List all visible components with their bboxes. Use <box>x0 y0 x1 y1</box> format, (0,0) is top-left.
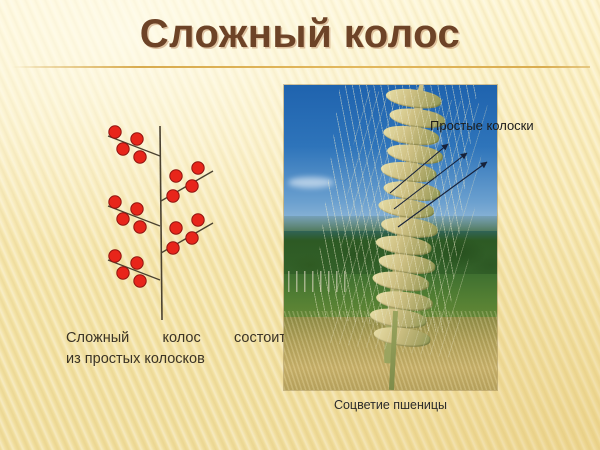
title-divider-rule <box>12 66 590 68</box>
spikelet-branch-left-3 <box>108 250 160 287</box>
spikelet-branch-left-1 <box>108 126 160 163</box>
slide-title: Сложный колос <box>0 12 600 57</box>
diagram-caption-line-2: из простых колосков <box>66 349 286 370</box>
compound-spike-diagram <box>95 108 265 328</box>
spikelet-branch-right-1 <box>161 162 213 202</box>
diagram-stem <box>160 126 162 320</box>
photo-caption: Соцветие пшеницы <box>284 398 497 412</box>
spikelet-branch-left-2 <box>108 196 160 233</box>
photo-cloud <box>288 177 334 188</box>
diagram-caption: Сложный колос состоит из простых колоско… <box>66 328 286 370</box>
callout-label: Простые колоски <box>430 118 534 133</box>
spikelet-branch-right-2 <box>161 214 213 254</box>
slide-canvas: Сложный колос <box>0 0 600 450</box>
diagram-caption-line-1: Сложный колос состоит <box>66 328 286 349</box>
photo-fence <box>288 271 352 292</box>
